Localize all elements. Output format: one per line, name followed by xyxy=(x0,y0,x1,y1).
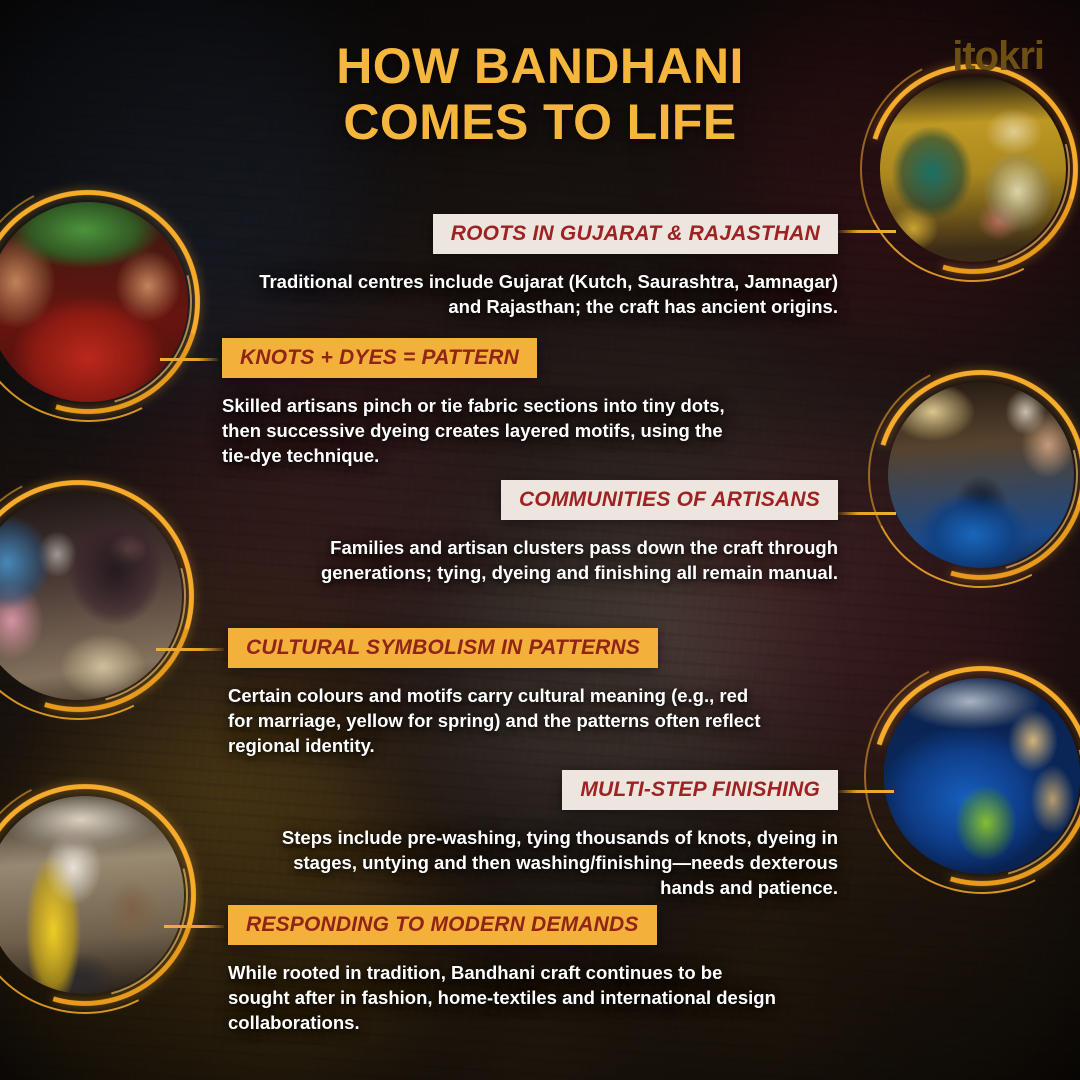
section-body: Steps include pre-washing, tying thousan… xyxy=(278,826,838,900)
connector-line-6 xyxy=(164,925,224,928)
section-responding-to-modern-demands: RESPONDING TO MODERN DEMANDS While roote… xyxy=(228,905,868,1035)
section-heading: MULTI-STEP FINISHING xyxy=(562,770,838,810)
connector-line-5 xyxy=(838,790,894,793)
section-roots-in-gujarat-rajasthan: ROOTS IN GUJARAT & RAJASTHAN Traditional… xyxy=(238,214,838,320)
logo-text: itokri xyxy=(952,34,1044,78)
section-body: Skilled artisans pinch or tie fabric sec… xyxy=(222,394,752,468)
section-body: Certain colours and motifs carry cultura… xyxy=(228,684,768,758)
photo-hands-tying-red-cloth xyxy=(0,202,188,402)
section-cultural-symbolism-in-patterns: CULTURAL SYMBOLISM IN PATTERNS Certain c… xyxy=(228,628,868,758)
section-body: Families and artisan clusters pass down … xyxy=(232,536,838,586)
section-heading: ROOTS IN GUJARAT & RAJASTHAN xyxy=(433,214,838,254)
photo-artisan-dyeing-tub xyxy=(888,382,1074,568)
connector-line-3 xyxy=(838,512,896,515)
section-body: Traditional centres include Gujarat (Kut… xyxy=(238,270,838,320)
connector-line-4 xyxy=(156,648,224,651)
photo-image xyxy=(0,202,188,402)
section-body: While rooted in tradition, Bandhani craf… xyxy=(228,961,788,1035)
photo-women-artisans-seated xyxy=(0,492,182,700)
photo-image xyxy=(884,678,1080,874)
photo-artisan-yellow-cloth xyxy=(0,796,184,994)
page-title: HOW BANDHANI COMES TO LIFE xyxy=(0,38,1080,150)
infographic-poster: itokri HOW BANDHANI COMES TO LIFE xyxy=(0,0,1080,1080)
connector-line-1 xyxy=(838,230,896,233)
section-multi-step-finishing: MULTI-STEP FINISHING Steps include pre-w… xyxy=(218,770,838,900)
connector-line-2 xyxy=(160,358,218,361)
section-communities-of-artisans: COMMUNITIES OF ARTISANS Families and art… xyxy=(218,480,838,586)
photo-image xyxy=(888,382,1074,568)
section-knots-dyes-pattern: KNOTS + DYES = PATTERN Skilled artisans … xyxy=(222,338,842,468)
photo-image xyxy=(0,796,184,994)
section-heading: KNOTS + DYES = PATTERN xyxy=(222,338,537,378)
photo-blue-dye-vat xyxy=(884,678,1080,874)
page-title-line-2: COMES TO LIFE xyxy=(0,94,1080,150)
section-heading: COMMUNITIES OF ARTISANS xyxy=(501,480,838,520)
page-title-line-1: HOW BANDHANI xyxy=(0,38,1080,94)
section-heading: RESPONDING TO MODERN DEMANDS xyxy=(228,905,657,945)
section-heading: CULTURAL SYMBOLISM IN PATTERNS xyxy=(228,628,658,668)
photo-image xyxy=(0,492,182,700)
itokri-logo[interactable]: itokri xyxy=(952,36,1044,76)
